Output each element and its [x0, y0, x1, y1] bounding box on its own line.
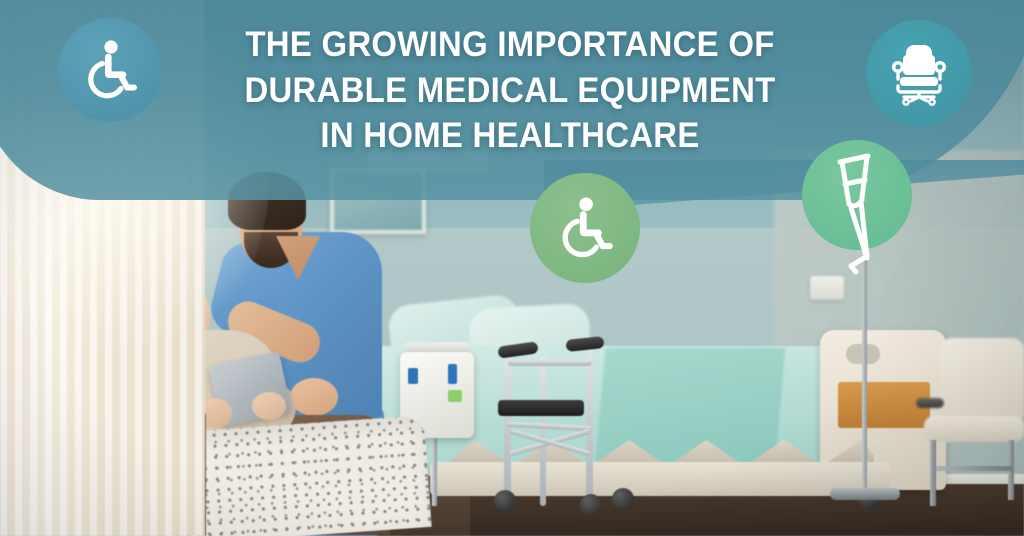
banner-image: THE GROWING IMPORTANCE OF DURABLE MEDICA… — [0, 0, 1024, 536]
title-line-2: DURABLE MEDICAL EQUIPMENT — [181, 68, 839, 114]
infusion-pump-stand — [432, 436, 437, 506]
wheelchair-icon — [552, 195, 618, 261]
caregiver-hand — [290, 378, 338, 416]
crutch-icon — [820, 146, 900, 276]
visitor-chair-back — [940, 338, 1024, 424]
wheelchair-icon-center-badge — [530, 173, 640, 283]
pump-status-light — [448, 390, 462, 402]
walker-leg — [504, 348, 511, 508]
visitor-chair-seat — [924, 416, 1024, 442]
pump-indicator — [448, 364, 457, 384]
bed-caster — [612, 488, 634, 510]
walker-caster — [494, 490, 516, 512]
visitor-chair-stretcher — [936, 466, 1012, 471]
title-line-1: THE GROWING IMPORTANCE OF — [181, 22, 839, 68]
wheelchair-icon — [78, 38, 142, 102]
wheelchair-icon-left-badge — [58, 18, 162, 122]
wall-outlet — [810, 276, 844, 300]
walker-seat — [498, 400, 584, 416]
page-title: THE GROWING IMPORTANCE OF DURABLE MEDICA… — [181, 22, 839, 159]
iv-pole-base — [830, 488, 900, 500]
walker-caster — [580, 494, 602, 516]
visitor-chair-leg — [930, 440, 936, 506]
patient-hand-right — [252, 392, 286, 420]
recliner-chair-icon — [885, 39, 953, 107]
walker-crossbar — [508, 360, 592, 366]
pump-indicator — [408, 368, 418, 384]
walker-leg — [540, 356, 546, 506]
recliner-chair-icon-badge — [866, 20, 972, 126]
visitor-chair-arm — [916, 398, 944, 408]
title-line-3: IN HOME HEALTHCARE — [181, 113, 839, 159]
